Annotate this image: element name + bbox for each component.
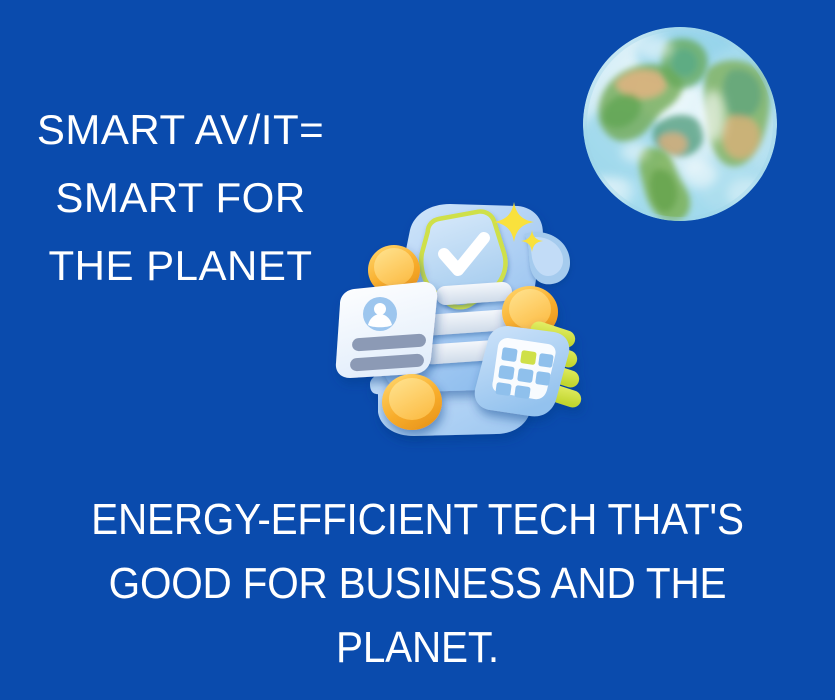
coin-bottom bbox=[382, 374, 442, 430]
tagline-line-3: PLANET. bbox=[33, 616, 801, 680]
page-headline: SMART AV/IT= SMART FOR THE PLANET bbox=[8, 96, 353, 300]
calculator bbox=[475, 319, 584, 416]
tagline-line-1: ENERGY-EFFICIENT TECH THAT'S bbox=[33, 488, 801, 552]
headline-line-3: THE PLANET bbox=[8, 232, 353, 300]
secure-document-3d-illustration bbox=[318, 186, 598, 454]
headline-line-1: SMART AV/IT= bbox=[8, 96, 353, 164]
headline-line-2: SMART FOR bbox=[8, 164, 353, 232]
earth-globe-illustration bbox=[581, 24, 779, 224]
poster-canvas: SMART AV/IT= SMART FOR THE PLANET ENERGY… bbox=[0, 0, 835, 700]
page-tagline: ENERGY-EFFICIENT TECH THAT'S GOOD FOR BU… bbox=[33, 488, 801, 680]
tagline-line-2: GOOD FOR BUSINESS AND THE bbox=[33, 552, 801, 616]
